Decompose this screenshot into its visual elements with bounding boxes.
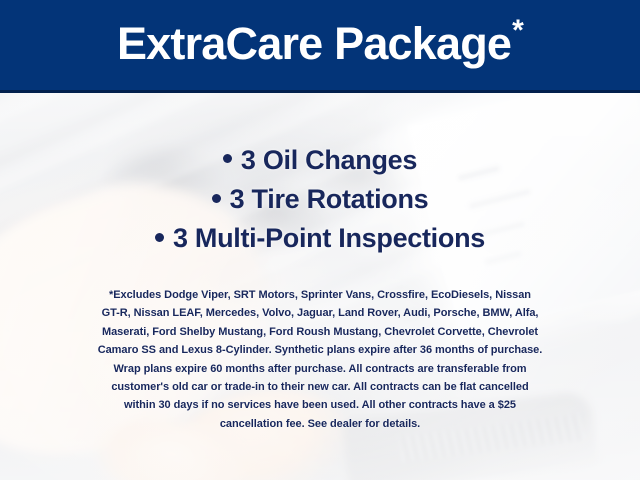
benefit-label: 3 Tire Rotations bbox=[230, 184, 429, 214]
benefit-label: 3 Oil Changes bbox=[241, 145, 417, 175]
extracare-package-ad: ExtraCare Package* 3 Oil Changes 3 Tire … bbox=[0, 0, 640, 480]
benefit-item: 3 Oil Changes bbox=[0, 141, 640, 180]
bullet-dot-icon bbox=[223, 154, 232, 163]
disclaimer-line: *Excludes Dodge Viper, SRT Motors, Sprin… bbox=[28, 286, 612, 304]
benefits-list: 3 Oil Changes 3 Tire Rotations 3 Multi-P… bbox=[0, 141, 640, 258]
disclaimer-line: Camaro SS and Lexus 8-Cylinder. Syntheti… bbox=[28, 341, 612, 359]
disclaimer-line: Maserati, Ford Shelby Mustang, Ford Rous… bbox=[28, 323, 612, 341]
benefit-label: 3 Multi-Point Inspections bbox=[173, 223, 485, 253]
bullet-dot-icon bbox=[155, 233, 164, 242]
bullet-dot-icon bbox=[212, 194, 221, 203]
benefit-item: 3 Multi-Point Inspections bbox=[0, 219, 640, 258]
page-title-text: ExtraCare Package bbox=[117, 18, 511, 69]
disclaimer-line: GT-R, Nissan LEAF, Mercedes, Volvo, Jagu… bbox=[28, 304, 612, 322]
header-banner: ExtraCare Package* bbox=[0, 0, 640, 93]
footnote-asterisk: * bbox=[512, 14, 523, 47]
disclaimer-text: *Excludes Dodge Viper, SRT Motors, Sprin… bbox=[28, 286, 612, 433]
disclaimer-line: within 30 days if no services have been … bbox=[28, 396, 612, 414]
disclaimer-line: Wrap plans expire 60 months after purcha… bbox=[28, 360, 612, 378]
benefit-item: 3 Tire Rotations bbox=[0, 180, 640, 219]
disclaimer-line: cancellation fee. See dealer for details… bbox=[28, 415, 612, 433]
disclaimer-line: customer's old car or trade-in to their … bbox=[28, 378, 612, 396]
page-title: ExtraCare Package* bbox=[117, 21, 523, 66]
